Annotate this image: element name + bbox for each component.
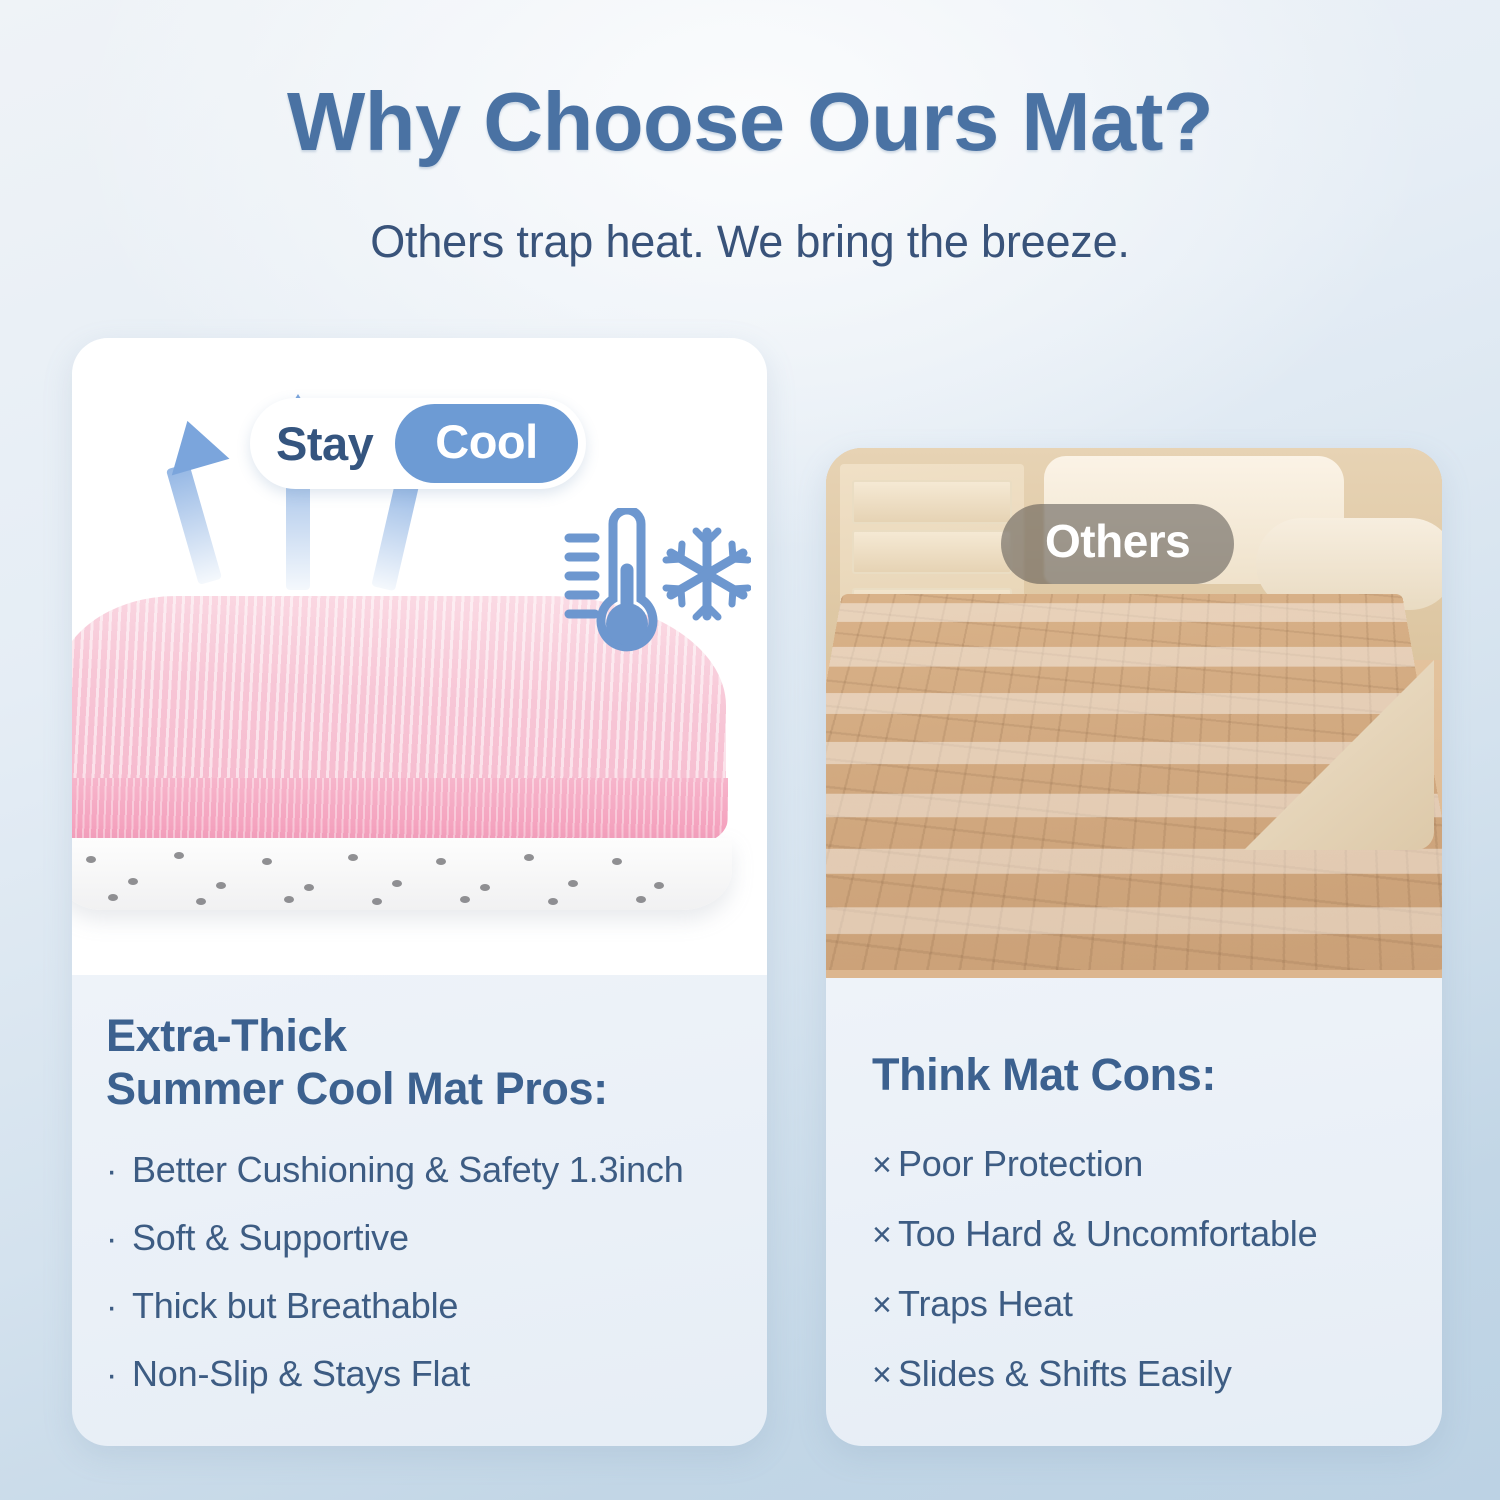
airflow-arrow-stem-left xyxy=(166,463,222,585)
pros-list: · Better Cushioning & Safety 1.3inch · S… xyxy=(106,1149,743,1395)
list-item: × Too Hard & Uncomfortable xyxy=(872,1213,1418,1255)
list-item: × Slides & Shifts Easily xyxy=(872,1353,1418,1395)
list-item: · Non-Slip & Stays Flat xyxy=(106,1353,743,1395)
cons-heading: Think Mat Cons: xyxy=(872,1048,1418,1101)
cons-item-label: Traps Heat xyxy=(898,1283,1073,1325)
thermometer-snowflake-icon xyxy=(561,508,751,663)
cons-bullet: × xyxy=(872,1216,898,1255)
cons-bullet: × xyxy=(872,1146,898,1185)
badge-word-stay: Stay xyxy=(276,416,395,471)
cons-list: × Poor Protection × Too Hard & Uncomfort… xyxy=(872,1143,1418,1395)
list-item: · Thick but Breathable xyxy=(106,1285,743,1327)
pros-bullet: · xyxy=(106,1288,132,1327)
cons-card: Others Think Mat Cons: × Poor Protection… xyxy=(826,448,1442,1446)
pros-bullet: · xyxy=(106,1152,132,1191)
pros-item-label: Better Cushioning & Safety 1.3inch xyxy=(132,1149,684,1191)
pros-item-label: Non-Slip & Stays Flat xyxy=(132,1353,470,1395)
page-subtitle: Others trap heat. We bring the breeze. xyxy=(0,216,1500,268)
airflow-arrow-left xyxy=(159,413,230,476)
page-title: Why Choose Ours Mat? xyxy=(0,74,1500,170)
pros-card: Stay Cool Extra-Thick Summer Cool Mat Pr… xyxy=(72,338,767,1446)
list-item: · Better Cushioning & Safety 1.3inch xyxy=(106,1149,743,1191)
list-item: · Soft & Supportive xyxy=(106,1217,743,1259)
list-item: × Poor Protection xyxy=(872,1143,1418,1185)
mat-side-band xyxy=(72,778,728,844)
pros-item-label: Soft & Supportive xyxy=(132,1217,409,1259)
pros-body: Extra-Thick Summer Cool Mat Pros: · Bett… xyxy=(72,975,767,1446)
cons-bullet: × xyxy=(872,1356,898,1395)
pros-bullet: · xyxy=(106,1356,132,1395)
pros-item-label: Thick but Breathable xyxy=(132,1285,458,1327)
infographic-root: Why Choose Ours Mat? Others trap heat. W… xyxy=(0,0,1500,1500)
badge-word-cool: Cool xyxy=(395,404,577,483)
cooling-mat-photo: Stay Cool xyxy=(72,338,767,975)
airflow-arrow-stem-right xyxy=(371,473,420,591)
stay-cool-badge: Stay Cool xyxy=(250,398,586,489)
cons-bullet: × xyxy=(872,1286,898,1325)
list-item: × Traps Heat xyxy=(872,1283,1418,1325)
mat-foam-base xyxy=(72,838,732,910)
competitor-mat-photo: Others xyxy=(826,448,1442,978)
cons-item-label: Slides & Shifts Easily xyxy=(898,1353,1232,1395)
cons-body: Think Mat Cons: × Poor Protection × Too … xyxy=(826,978,1442,1446)
pros-heading-line2: Summer Cool Mat Pros: xyxy=(106,1062,743,1115)
others-badge: Others xyxy=(1001,504,1234,584)
pros-heading: Extra-Thick Summer Cool Mat Pros: xyxy=(106,1009,743,1115)
pros-bullet: · xyxy=(106,1220,132,1259)
pros-heading-line1: Extra-Thick xyxy=(106,1009,743,1062)
cons-item-label: Too Hard & Uncomfortable xyxy=(898,1213,1317,1255)
cons-item-label: Poor Protection xyxy=(898,1143,1143,1185)
